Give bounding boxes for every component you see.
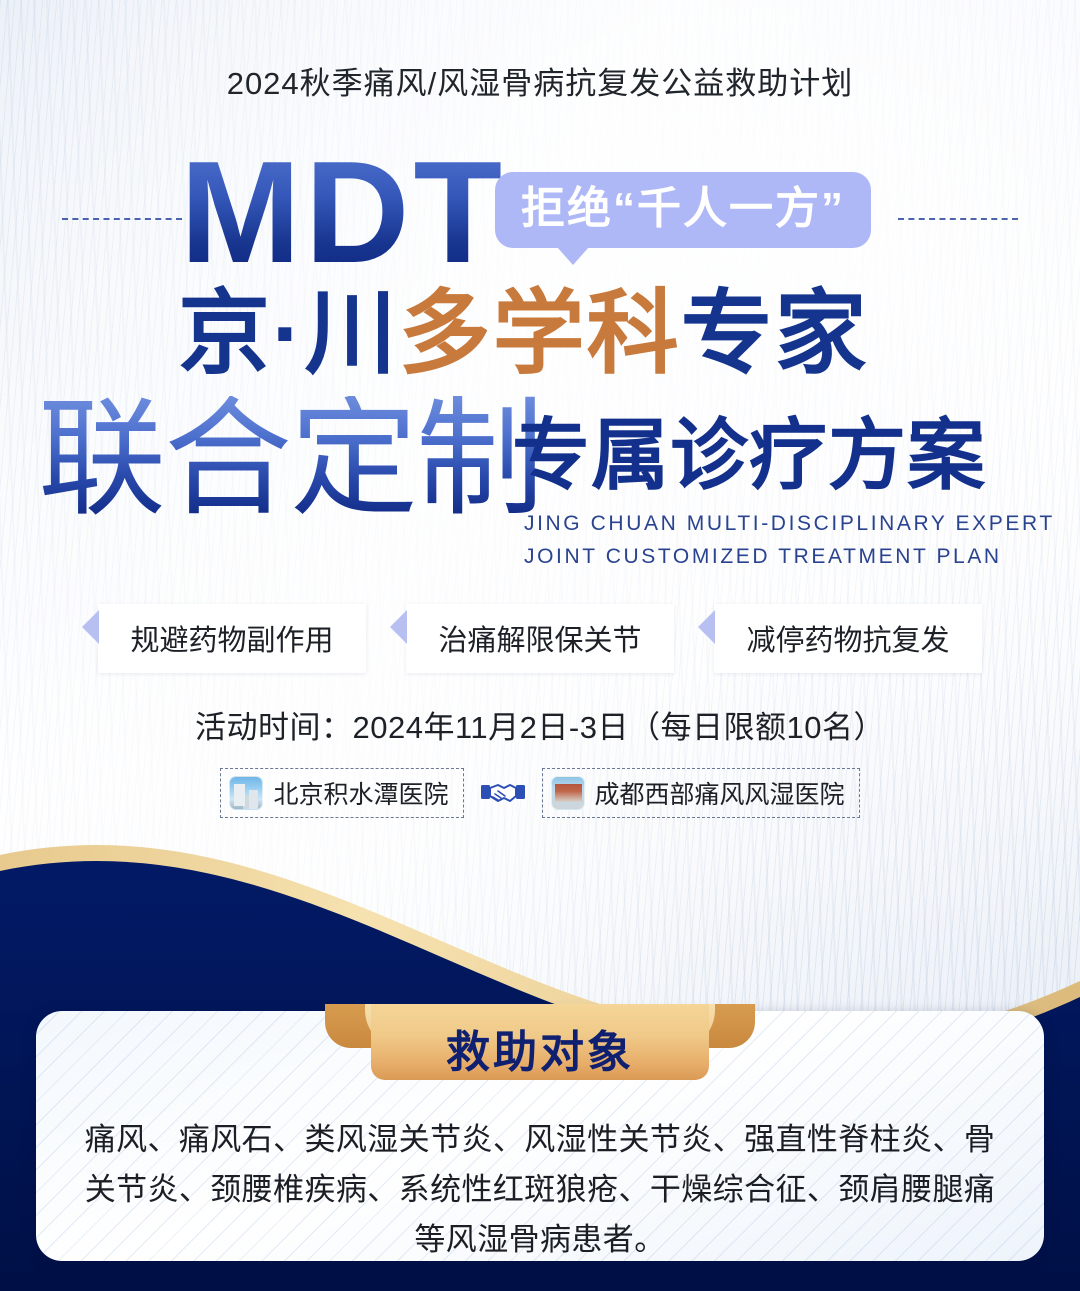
poster-root: 2024秋季痛风/风湿骨病抗复发公益救助计划 MDT 拒绝“千人一方” 京·川多… [0,0,1080,1291]
headline-line-two-suffix: 专家 [681,283,869,385]
aid-target-banner-label: 救助对象 [325,1016,755,1080]
headline-line-two-prefix: 京·川 [178,283,399,385]
aid-target-banner: 救助对象 [325,1004,755,1080]
hospital-name: 北京积水潭医院 [273,775,448,811]
headline-line-two-highlight: 多学科 [399,283,681,385]
feature-tag: 规避药物副作用 [98,604,366,673]
hospital-card-beijing: 北京积水潭医院 [220,768,463,818]
campaign-kicker: 2024秋季痛风/风湿骨病抗复发公益救助计划 [0,58,1080,103]
dashed-rule-right [898,218,1018,220]
mdt-acronym: MDT [180,140,506,285]
feature-tag-list: 规避药物副作用 治痛解限保关节 减停药物抗复发 [0,604,1080,673]
english-subtitle-line-2: JOINT CUSTOMIZED TREATMENT PLAN [524,541,1055,574]
hospital-building-photo [551,776,585,810]
aid-target-body: 痛风、痛风石、类风湿关节炎、风湿性关节炎、强直性脊柱炎、骨关节炎、颈腰椎疾病、系… [36,1115,1044,1261]
headline-line-three-big: 联合定制 [38,396,542,524]
event-time: 活动时间：2024年11月2日-3日（每日限额10名） [0,702,1080,747]
handshake-icon [480,776,526,810]
feature-tag: 减停药物抗复发 [714,604,982,673]
hospital-name: 成都西部痛风风湿医院 [595,775,845,811]
headline-line-two: 京·川多学科专家 [178,288,869,380]
hospital-card-chengdu: 成都西部痛风风湿医院 [542,768,860,818]
hospital-partner-row: 北京积水潭医院 成都西部痛风风湿医院 [0,768,1080,818]
hospital-building-photo [229,776,263,810]
feature-tag: 治痛解限保关节 [406,604,674,673]
dashed-rule-left [62,218,182,220]
headline-line-three-right: 专属诊疗方案 [512,416,986,494]
english-subtitle: JING CHUAN MULTI-DISCIPLINARY EXPERT JOI… [524,508,1055,573]
slogan-badge: 拒绝“千人一方” [495,172,871,248]
english-subtitle-line-1: JING CHUAN MULTI-DISCIPLINARY EXPERT [524,508,1055,541]
